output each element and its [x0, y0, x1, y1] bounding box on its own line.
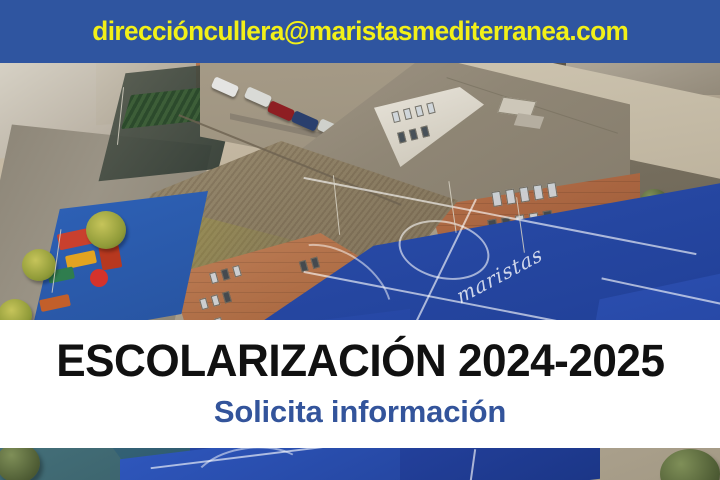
window: [519, 186, 530, 202]
window: [533, 184, 544, 200]
subline-text[interactable]: Solicita información: [214, 396, 506, 427]
street-tree: [0, 443, 40, 480]
window: [221, 268, 231, 281]
email-bar: direccióncullera@maristasmediterranea.co…: [0, 0, 720, 63]
school-enrollment-poster: direccióncullera@maristasmediterranea.co…: [0, 0, 720, 480]
window: [491, 191, 502, 207]
window: [403, 108, 412, 120]
window: [397, 131, 406, 143]
window: [391, 111, 400, 123]
announcement-banner: ESCOLARIZACIÓN 2024-2025 Solicita inform…: [0, 320, 720, 448]
headline-text: ESCOLARIZACIÓN 2024-2025: [56, 337, 664, 384]
contact-email-text[interactable]: direccióncullera@maristasmediterranea.co…: [92, 18, 628, 45]
palm-tree: [22, 249, 56, 281]
window: [505, 189, 516, 205]
play-equipment: [90, 269, 108, 287]
window: [415, 105, 424, 117]
palm-tree: [86, 211, 126, 249]
window: [211, 294, 221, 307]
window: [409, 128, 418, 140]
